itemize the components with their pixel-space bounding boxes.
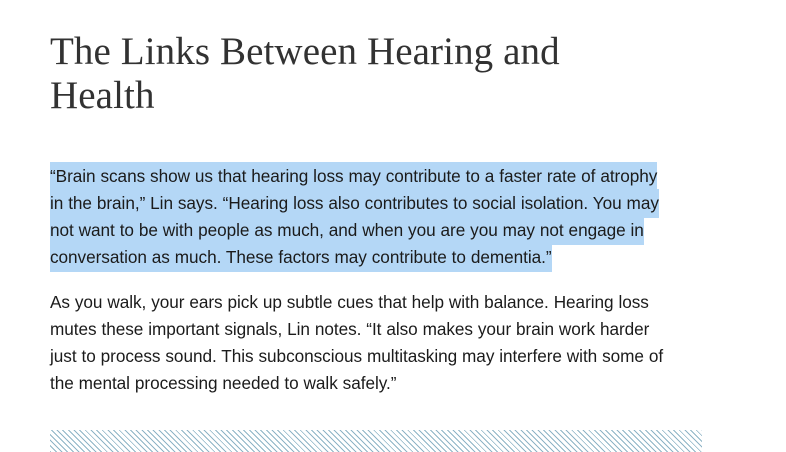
text-line: conversation as much. These factors may … xyxy=(50,244,702,271)
page-title: The Links Between Hearing and Health xyxy=(50,0,650,118)
page-title-line-1: The Links Between Hearing and xyxy=(50,30,560,73)
text-line: mutes these important signals, Lin notes… xyxy=(50,316,702,343)
text-line: As you walk, your ears pick up subtle cu… xyxy=(50,289,702,316)
text-line: the mental processing needed to walk saf… xyxy=(50,370,702,397)
highlighted-text-line-3: not want to be with people as much, and … xyxy=(50,216,644,245)
plain-text-line-2: mutes these important signals, Lin notes… xyxy=(50,315,649,344)
highlighted-text-line-4: conversation as much. These factors may … xyxy=(50,243,552,272)
hatched-section-divider xyxy=(50,430,702,452)
text-line: just to process sound. This subconscious… xyxy=(50,343,702,370)
text-line: “Brain scans show us that hearing loss m… xyxy=(50,163,702,190)
plain-text-line-4: the mental processing needed to walk saf… xyxy=(50,369,396,398)
plain-text-line-3: just to process sound. This subconscious… xyxy=(50,342,663,371)
article-content-column: The Links Between Hearing and Health “Br… xyxy=(50,0,702,397)
highlighted-text-line-2: in the brain,” Lin says. “Hearing loss a… xyxy=(50,189,659,218)
article-page: The Links Between Hearing and Health “Br… xyxy=(0,0,786,452)
text-line: not want to be with people as much, and … xyxy=(50,217,702,244)
highlighted-text-line-1: “Brain scans show us that hearing loss m… xyxy=(50,162,657,191)
highlighted-quote-paragraph[interactable]: “Brain scans show us that hearing loss m… xyxy=(50,163,702,271)
balance-paragraph[interactable]: As you walk, your ears pick up subtle cu… xyxy=(50,289,702,397)
text-line: in the brain,” Lin says. “Hearing loss a… xyxy=(50,190,702,217)
page-title-line-2: Health xyxy=(50,74,155,117)
plain-text-line-1: As you walk, your ears pick up subtle cu… xyxy=(50,288,649,317)
